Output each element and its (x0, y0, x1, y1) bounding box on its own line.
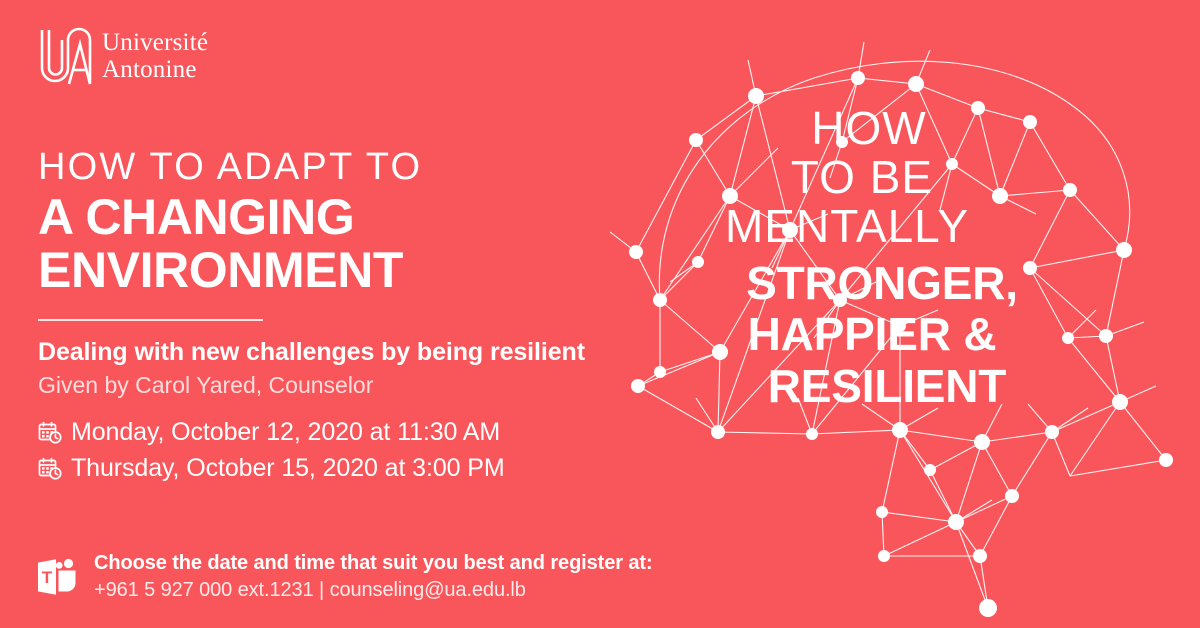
svg-text:T: T (42, 568, 53, 587)
brain-line-4: STRONGER, (674, 258, 1090, 310)
registration-footer: T Choose the date and time that suit you… (34, 550, 653, 604)
event-poster: Université Antonine HOW TO ADAPT TO A CH… (0, 0, 1200, 628)
logo-line-2: Antonine (102, 57, 208, 84)
university-logo-text: Université Antonine (102, 30, 208, 84)
brain-line-3: MENTALLY (604, 202, 1090, 251)
session-dates-list: Monday, October 12, 2020 at 11:30 AM Thu… (38, 418, 505, 490)
ua-monogram-icon (36, 26, 92, 88)
session-date-text: Thursday, October 15, 2020 at 3:00 PM (71, 454, 505, 483)
brain-network-icon (600, 0, 1200, 628)
page-title: A CHANGING ENVIRONMENT (38, 191, 598, 297)
divider (38, 319, 263, 321)
subtitle: Dealing with new challenges by being res… (38, 337, 598, 368)
speaker-byline: Given by Carol Yared, Counselor (38, 371, 598, 401)
footer-line-2: +961 5 927 000 ext.1231 | counseling@ua.… (94, 577, 653, 604)
brain-line-1: HOW (648, 104, 1090, 153)
microsoft-teams-icon: T (34, 554, 80, 600)
calendar-clock-icon (38, 421, 62, 445)
brain-line-2: TO BE (634, 153, 1090, 202)
registration-copy: Choose the date and time that suit you b… (94, 550, 653, 604)
logo-line-1: Université (102, 30, 208, 57)
brain-line-5: HAPPIER & (654, 309, 1090, 361)
headline-block: HOW TO ADAPT TO A CHANGING ENVIRONMENT D… (38, 146, 598, 401)
headline-line-1: A CHANGING (38, 191, 598, 244)
university-logo: Université Antonine (36, 26, 208, 88)
headline-line-2: ENVIRONMENT (38, 244, 598, 297)
list-item: Thursday, October 15, 2020 at 3:00 PM (38, 454, 505, 483)
kicker-text: HOW TO ADAPT TO (38, 146, 598, 189)
footer-line-1: Choose the date and time that suit you b… (94, 550, 653, 577)
list-item: Monday, October 12, 2020 at 11:30 AM (38, 418, 505, 447)
session-date-text: Monday, October 12, 2020 at 11:30 AM (71, 418, 500, 447)
calendar-clock-icon (38, 457, 62, 481)
brain-line-6: RESILIENT (684, 361, 1090, 413)
brain-overlay-text: HOW TO BE MENTALLY STRONGER, HAPPIER & R… (620, 104, 1090, 412)
